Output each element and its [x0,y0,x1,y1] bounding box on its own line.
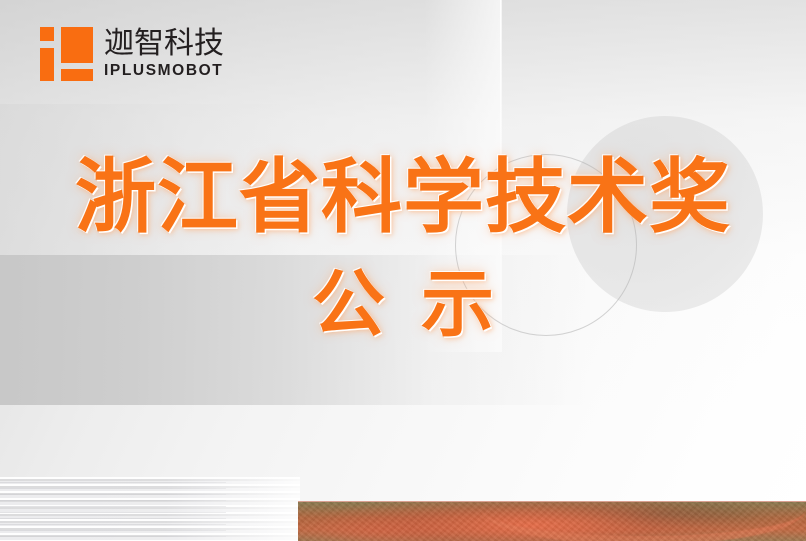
subtitle-container: 公示 [0,268,806,341]
bottom-photo-texture [298,502,806,541]
company-name-en: IPLUSMOBOT [104,61,224,80]
bottom-photo-strip [298,501,806,541]
company-logo: 迦智科技 IPLUSMOBOT [40,27,224,81]
decorative-stripe-band-fade [0,477,300,541]
logo-square-small [40,27,54,41]
slide-title: 浙江省科学技术奖 [0,158,806,239]
company-logo-text: 迦智科技 IPLUSMOBOT [104,28,224,81]
logo-square-large [61,27,93,63]
slide-subtitle: 公示 [0,268,806,341]
presentation-slide: 迦智科技 IPLUSMOBOT 浙江省科学技术奖 公示 [0,0,806,541]
iplusmobot-logo-mark-icon [40,27,93,81]
logo-bar-wide [61,69,93,81]
logo-bar-tall [40,48,54,81]
headline-container: 浙江省科学技术奖 [0,158,806,239]
company-name-cn: 迦智科技 [104,29,224,60]
